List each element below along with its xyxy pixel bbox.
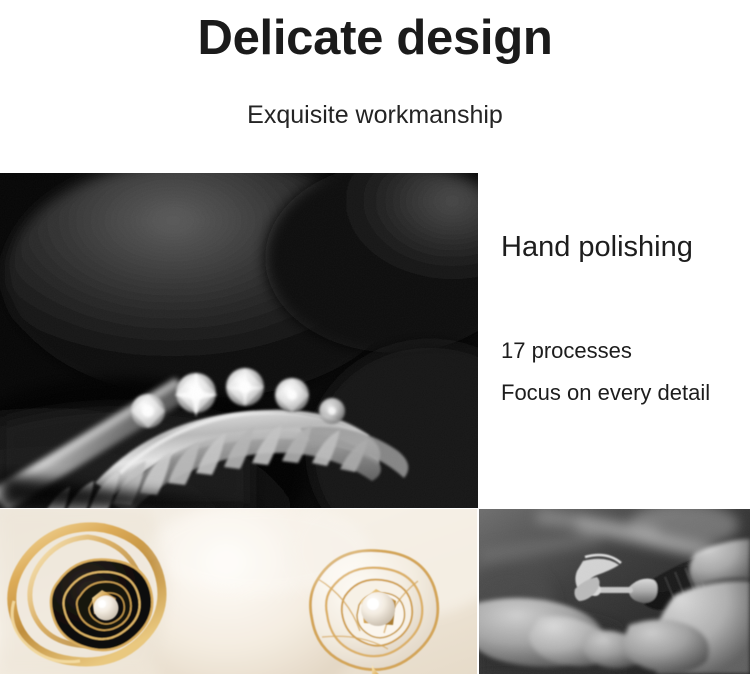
side-panel-heading: Hand polishing xyxy=(501,232,693,264)
page-subtitle: Exquisite workmanship xyxy=(0,100,750,130)
page-title: Delicate design xyxy=(0,14,750,63)
polishing-tool-graphic xyxy=(479,509,750,674)
jewelry-polishing-tool-photo xyxy=(479,509,750,674)
footer-whitespace xyxy=(0,674,750,693)
side-panel-line-1: 17 processes xyxy=(501,339,632,363)
side-panel-line-2: Focus on every detail xyxy=(501,381,710,405)
header-banner: Delicate design Exquisite workmanship xyxy=(0,0,750,173)
hero-photo-graphic xyxy=(0,173,478,508)
ring-polishing-closeup-photo xyxy=(0,173,478,508)
hand-polishing-text-panel: Hand polishing 17 processes Focus on eve… xyxy=(478,173,750,508)
camellia-flower-rings-photo xyxy=(0,509,477,674)
camellia-rings-graphic xyxy=(0,509,477,674)
